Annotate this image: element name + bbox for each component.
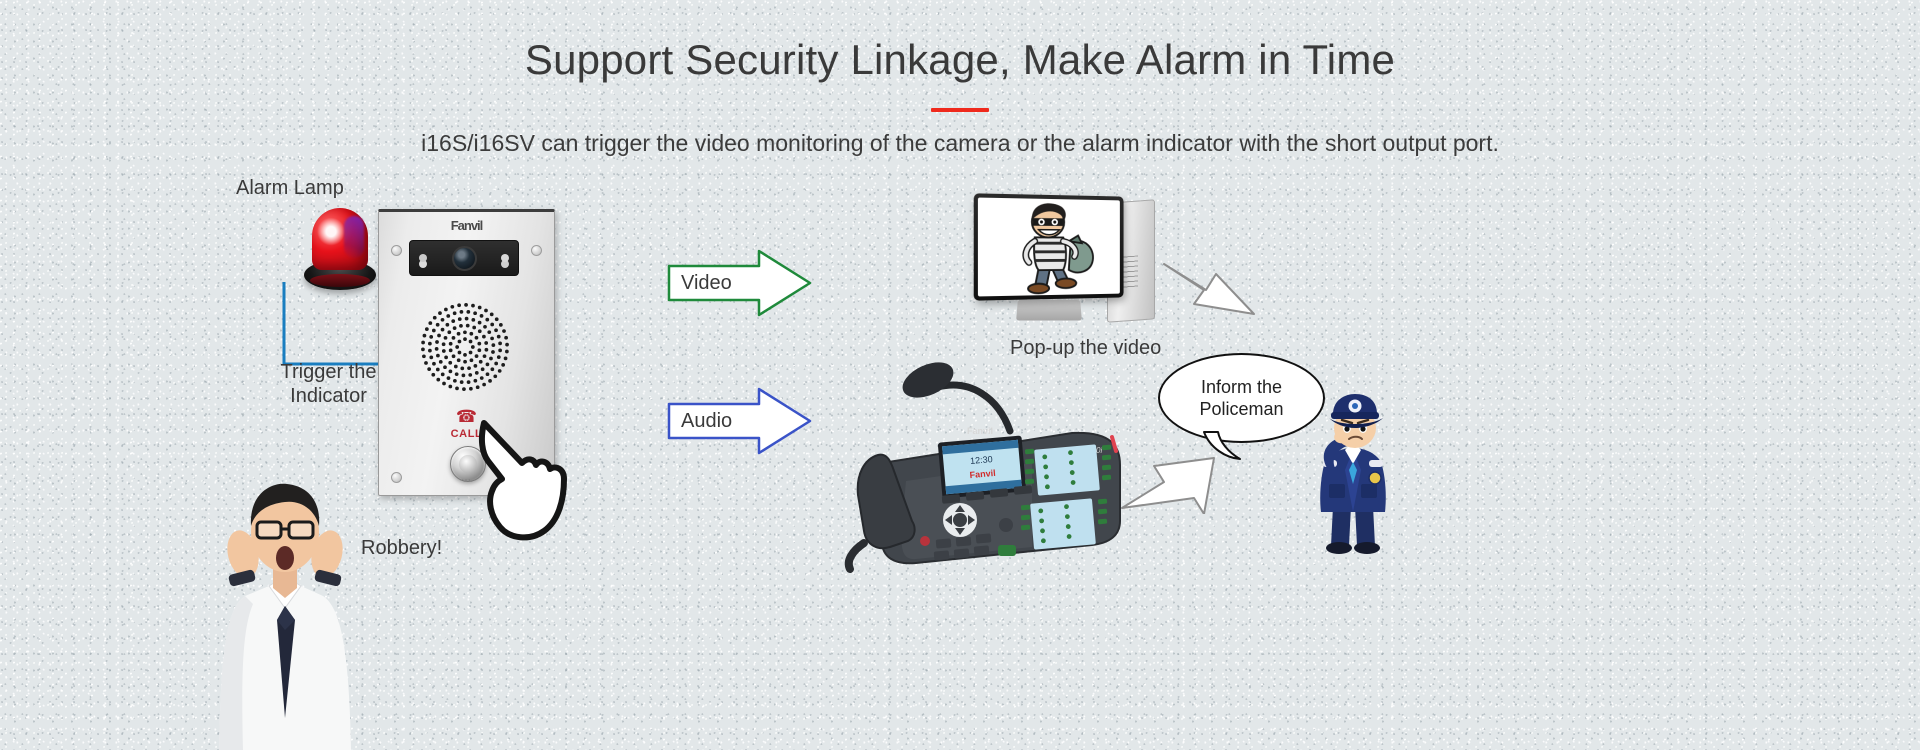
trigger-indicator-label: Trigger the Indicator: [276, 360, 381, 409]
video-arrow-label: Video: [681, 248, 732, 318]
audio-arrow-label: Audio: [681, 386, 732, 456]
video-flow-arrow: Video: [667, 248, 812, 318]
ip-phone-device[interactable]: 12:30 Fanvil Fanvil X210i: [820, 335, 1140, 575]
slide-canvas: Support Security Linkage, Make Alarm in …: [0, 0, 1920, 750]
navigation-cluster: [943, 503, 977, 537]
dss-panel-upper: [1034, 444, 1100, 495]
burglar-cartoon-icon: [978, 198, 1120, 297]
ir-led-icon-right: [501, 254, 509, 262]
policeman-saluting-icon: [1305, 388, 1401, 558]
robbery-label: Robbery!: [361, 536, 442, 560]
volume-key: [999, 518, 1013, 532]
message-led-icon: [920, 536, 930, 546]
inform-policeman-label: Inform the Policeman: [1199, 376, 1283, 421]
dss-panel-lower: [1030, 498, 1096, 549]
phone-screen-time: 12:30: [970, 454, 993, 466]
ir-led-icon-left: [419, 254, 427, 262]
screw-icon-bottom-left: [391, 472, 402, 483]
monitor-bezel: [974, 193, 1124, 300]
camera-lens-icon: [452, 246, 477, 271]
shocked-man-photo: [215, 468, 355, 750]
screw-icon-top-left: [391, 245, 402, 256]
audio-flow-arrow: Audio: [667, 386, 812, 456]
beacon-dome: [312, 208, 368, 270]
monitor-screen: [978, 198, 1120, 297]
title-underline-rule: [931, 108, 989, 112]
speaker-grille-icon: [416, 298, 514, 396]
white-block-arrow-icon-upper: [1160, 258, 1260, 320]
screw-icon-top-right: [531, 245, 542, 256]
speaker-key: [998, 545, 1016, 556]
microphone-icon: ⋯: [461, 475, 472, 486]
page-subtitle: i16S/i16SV can trigger the video monitor…: [0, 130, 1920, 157]
desktop-monitor-icon: [975, 195, 1165, 340]
pointing-hand-cursor-icon: [478, 417, 598, 547]
gooseneck-arm: [938, 385, 1010, 431]
microphone-icon: [897, 355, 959, 404]
monitor-stand: [1016, 300, 1082, 321]
alarm-lamp-label: Alarm Lamp: [236, 176, 344, 200]
page-title: Support Security Linkage, Make Alarm in …: [0, 36, 1920, 84]
speech-bubble-tail: [1198, 430, 1278, 462]
camera-module: [409, 240, 519, 276]
phone-brand-label: Fanvil: [967, 426, 993, 436]
door-station-brand: Fanvil: [379, 218, 554, 233]
